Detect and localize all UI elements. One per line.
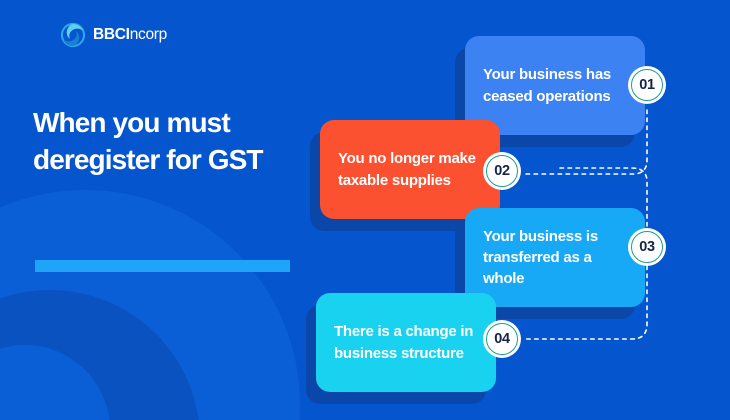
background-ring-outer	[0, 190, 300, 420]
card-02-text: You no longer make taxable supplies	[338, 148, 482, 191]
card-04-number: 04	[494, 331, 510, 347]
background-ring-inner	[0, 345, 110, 420]
brand-wordmark: BBCIncorp	[93, 27, 167, 43]
page-title-line-2: deregister for GST	[33, 141, 333, 178]
page-title: When you must deregister for GST	[33, 104, 333, 178]
swirl-circle-icon	[60, 22, 86, 48]
card-03-text: Your business is transferred as a whole	[483, 226, 627, 290]
page-title-line-1: When you must	[33, 104, 333, 141]
card-01-number: 01	[639, 77, 655, 93]
card-04-badge: 04	[483, 320, 521, 358]
card-02-body[interactable]: You no longer make taxable supplies	[320, 120, 500, 219]
card-03-number: 03	[639, 239, 655, 255]
card-01-text: Your business has ceased operations	[483, 64, 627, 107]
card-03-body[interactable]: Your business is transferred as a whole	[465, 208, 645, 307]
card-02-number: 02	[494, 163, 510, 179]
infographic-canvas: BBCIncorp When you must deregister for G…	[0, 0, 730, 420]
title-highlight-bar	[35, 260, 290, 272]
brand-name-light: ncorp	[130, 26, 167, 43]
card-04-text: There is a change in business structure	[334, 321, 478, 364]
brand-logo: BBCIncorp	[60, 22, 167, 48]
card-04-body[interactable]: There is a change in business structure	[316, 293, 496, 392]
brand-name-bold: BBCI	[93, 26, 130, 43]
card-02-badge: 02	[483, 152, 521, 190]
card-03-badge: 03	[628, 228, 666, 266]
card-01-badge: 01	[628, 66, 666, 104]
card-01-body[interactable]: Your business has ceased operations	[465, 36, 645, 135]
background-ring-middle	[0, 290, 200, 420]
